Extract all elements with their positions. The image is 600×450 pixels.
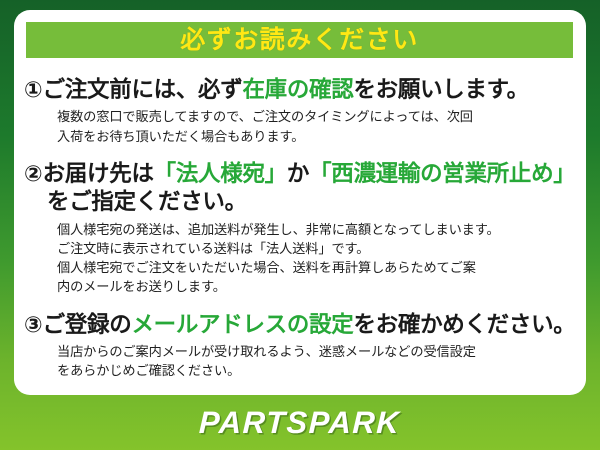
notice-section-1: ①ご注文前には、必ず在庫の確認をお願いします。 複数の窓口で販売してますので、ご… (14, 76, 586, 146)
section-2-body-line-2: ご注文時に表示されている送料は「法人送料」です。 (57, 239, 578, 258)
section-2-body: 個人様宅宛の発送は、追加送料が発生し、非常に高額となってしまいます。 ご注文時に… (24, 220, 578, 297)
section-3-body-line-2: をあらかじめご確認ください。 (57, 361, 578, 380)
section-3-headline-part-3: をお確かめください。 (353, 312, 575, 337)
section-2-headline-line-2: をご指定ください。 (24, 188, 578, 216)
section-2-headline-part-3: か (287, 161, 309, 186)
notice-card: 必ずお読みください ①ご注文前には、必ず在庫の確認をお願いします。 複数の窓口で… (14, 10, 586, 395)
banner-title-bar: 必ずお読みください (26, 22, 573, 58)
section-1-body-line-1: 複数の窓口で販売してますので、ご注文のタイミングによっては、次回 (57, 107, 578, 126)
section-1-headline-part-3: をお願いします。 (353, 77, 528, 102)
section-3-headline-part-1: ご登録の (43, 312, 132, 337)
section-2-number: ② (24, 161, 43, 186)
section-2-body-line-1: 個人様宅宛の発送は、追加送料が発生し、非常に高額となってしまいます。 (57, 220, 578, 239)
section-1-number: ① (24, 77, 43, 102)
section-2-body-line-4: 内のメールをお送りします。 (57, 277, 578, 296)
section-2-headline-part-1: お届け先は (43, 161, 154, 186)
section-2-headline-highlight-1: 「法人様宛」 (154, 161, 287, 186)
brand-footer: PARTSPARK (0, 395, 600, 450)
section-1-body-line-2: 入荷をお待ち頂いただく場合もあります。 (57, 127, 578, 146)
section-3-headline-highlight: メールアドレスの設定 (131, 312, 353, 337)
section-3-number: ③ (24, 312, 43, 337)
section-3-body: 当店からのご案内メールが受け取れるよう、迷惑メールなどの受信設定 をあらかじめご… (24, 342, 578, 381)
notice-section-3: ③ご登録のメールアドレスの設定をお確かめください。 当店からのご案内メールが受け… (14, 311, 586, 381)
section-1-headline: ①ご注文前には、必ず在庫の確認をお願いします。 (24, 76, 578, 104)
notice-section-2: ②お届け先は「法人様宛」か「西濃運輸の営業所止め」 をご指定ください。 個人様宅… (14, 160, 586, 297)
brand-logo-text: PARTSPARK (199, 405, 402, 441)
section-2-headline-highlight-2: 「西濃運輸の営業所止め」 (309, 161, 575, 186)
section-3-body-line-1: 当店からのご案内メールが受け取れるよう、迷惑メールなどの受信設定 (57, 342, 578, 361)
notice-banner: 必ずお読みください ①ご注文前には、必ず在庫の確認をお願いします。 複数の窓口で… (0, 0, 600, 450)
section-3-headline: ③ご登録のメールアドレスの設定をお確かめください。 (24, 311, 578, 339)
section-2-body-line-3: 個人様宅宛でご注文をいただいた場合、送料を再計算しあらためてご案 (57, 258, 578, 277)
banner-title: 必ずお読みください (180, 28, 419, 53)
section-1-headline-highlight: 在庫の確認 (242, 77, 353, 102)
section-2-headline: ②お届け先は「法人様宛」か「西濃運輸の営業所止め」 (24, 160, 578, 188)
section-1-headline-part-1: ご注文前には、必ず (43, 77, 243, 102)
notice-sections: ①ご注文前には、必ず在庫の確認をお願いします。 複数の窓口で販売してますので、ご… (14, 68, 586, 381)
section-1-body: 複数の窓口で販売してますので、ご注文のタイミングによっては、次回 入荷をお待ち頂… (24, 107, 578, 146)
